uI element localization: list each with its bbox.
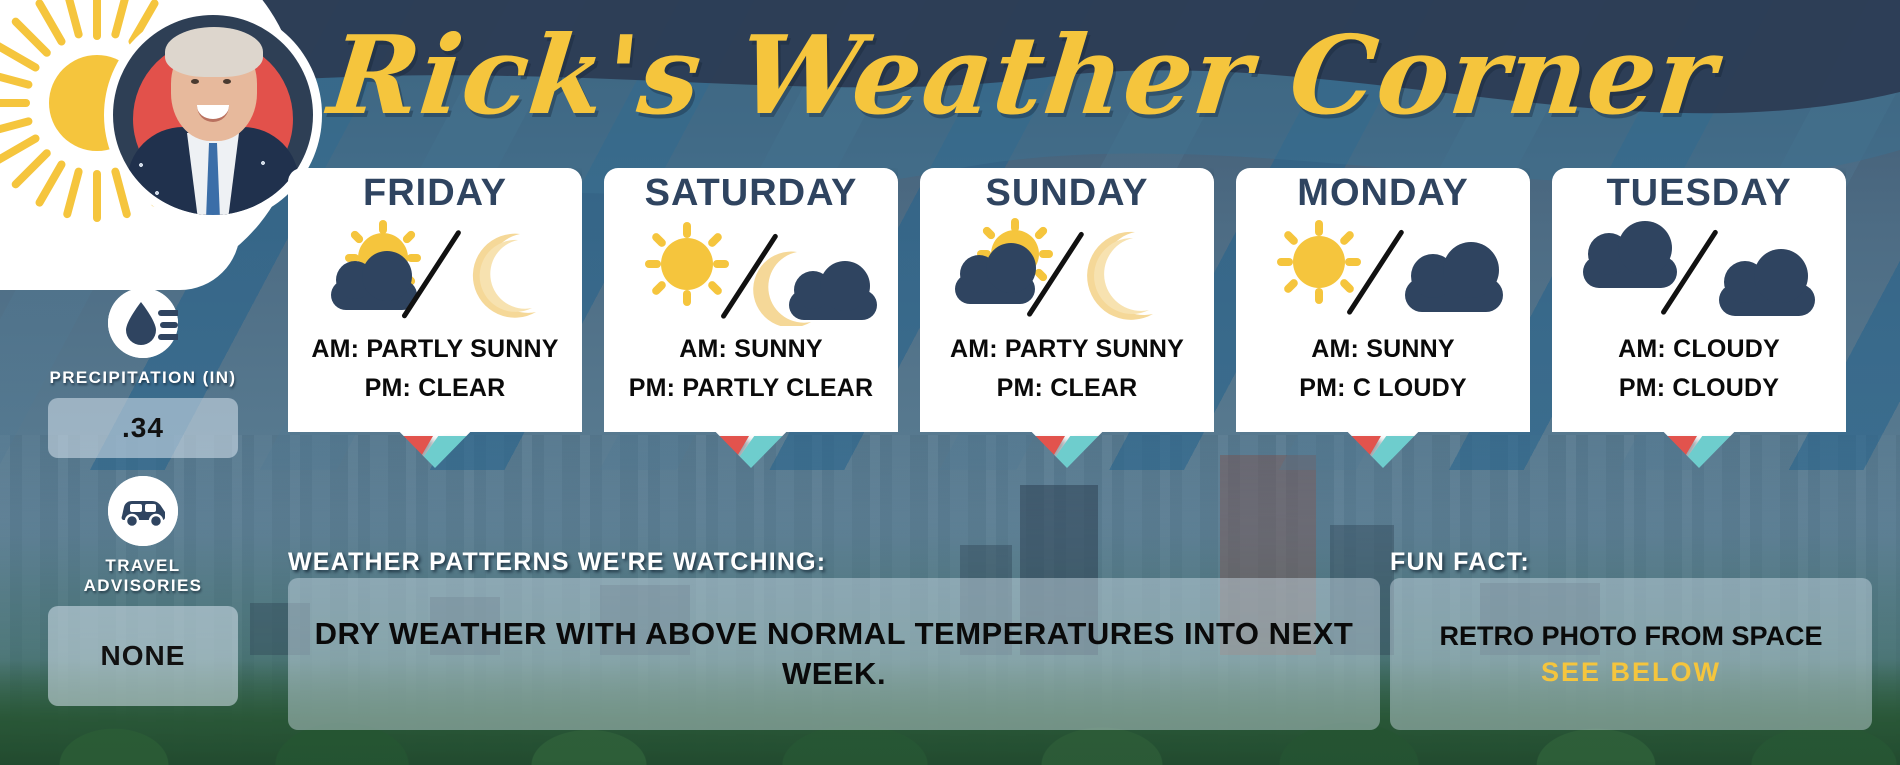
crescent-moon-icon xyxy=(473,234,536,318)
forecast-card-saturday[interactable]: SATURDAY xyxy=(604,168,898,468)
sun-behind-cloud-icon xyxy=(937,218,1197,326)
day-label: FRIDAY xyxy=(363,174,507,212)
forecast-card-monday[interactable]: MONDAY xyxy=(1236,168,1530,468)
day-label: MONDAY xyxy=(1297,174,1468,212)
crescent-moon-icon xyxy=(1087,232,1153,320)
cloud-icon xyxy=(1569,218,1829,326)
weather-icons xyxy=(621,218,881,326)
travel-advisories-block: TRAVEL ADVISORIES NONE xyxy=(48,476,238,706)
precipitation-block: PRECIPITATION (IN) .34 xyxy=(48,288,238,458)
condition-pm: PM: CLEAR xyxy=(997,373,1138,404)
condition-pm: PM: C LOUDY xyxy=(1299,373,1466,404)
car-icon xyxy=(108,476,178,546)
raindrop-icon xyxy=(108,288,178,358)
condition-pm: PM: CLEAR xyxy=(365,373,506,404)
forecast-cards: FRIDAY xyxy=(288,168,1860,468)
forecast-card-tuesday[interactable]: TUESDAY AM: CLOUDY PM: xyxy=(1552,168,1846,468)
weather-icons xyxy=(1569,218,1829,326)
sun-icon xyxy=(621,218,881,326)
day-label: TUESDAY xyxy=(1606,174,1791,212)
avatar xyxy=(113,15,313,215)
travel-advisories-value: NONE xyxy=(48,606,238,706)
cloud-icon xyxy=(1405,242,1503,312)
condition-pm: PM: CLOUDY xyxy=(1619,373,1779,404)
condition-am: AM: PARTLY SUNNY xyxy=(311,334,558,365)
moon-behind-cloud-icon xyxy=(753,252,877,326)
cloud-icon xyxy=(1719,249,1815,316)
forecast-card-sunday[interactable]: SUNDAY xyxy=(920,168,1214,468)
weather-icons xyxy=(937,218,1197,326)
weather-icons xyxy=(1253,218,1513,326)
fun-fact-box: RETRO PHOTO FROM SPACE SEE BELOW xyxy=(1390,578,1872,730)
fun-fact-heading: FUN FACT: xyxy=(1390,548,1530,577)
weather-icons xyxy=(305,218,565,326)
condition-pm: PM: PARTLY CLEAR xyxy=(629,373,873,404)
condition-am: AM: PARTY SUNNY xyxy=(950,334,1184,365)
day-label: SUNDAY xyxy=(986,174,1149,212)
weather-patterns-heading: WEATHER PATTERNS WE'RE WATCHING: xyxy=(288,548,826,577)
sun-behind-cloud-icon xyxy=(305,218,565,326)
weather-patterns-text: DRY WEATHER WITH ABOVE NORMAL TEMPERATUR… xyxy=(288,578,1380,730)
page-title: Rick's Weather Corner xyxy=(324,22,1721,130)
fun-fact-line1: RETRO PHOTO FROM SPACE xyxy=(1439,618,1822,654)
precipitation-value: .34 xyxy=(48,398,238,458)
travel-advisories-label: TRAVEL ADVISORIES xyxy=(48,556,238,596)
condition-am: AM: SUNNY xyxy=(679,334,822,365)
avatar-suit-dots xyxy=(113,15,313,215)
sun-icon xyxy=(1253,218,1513,326)
condition-am: AM: SUNNY xyxy=(1311,334,1454,365)
fun-fact-see-below: SEE BELOW xyxy=(1541,654,1721,690)
condition-am: AM: CLOUDY xyxy=(1618,334,1780,365)
forecast-card-friday[interactable]: FRIDAY xyxy=(288,168,582,468)
day-label: SATURDAY xyxy=(645,174,858,212)
precipitation-label: PRECIPITATION (IN) xyxy=(48,368,238,388)
weather-graphic: Rick's Weather Corner PRECIPITATION (IN)… xyxy=(0,0,1900,765)
